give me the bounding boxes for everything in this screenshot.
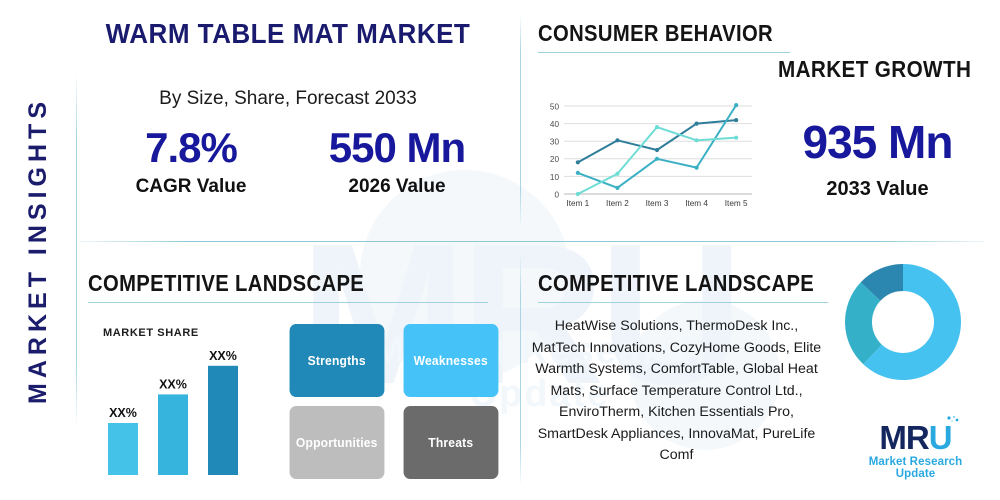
kpi-2026-value: 550 Mn (294, 122, 500, 174)
vertical-divider-center (520, 14, 521, 228)
consumer-behavior-heading-text: CONSUMER BEHAVIOR (538, 20, 760, 47)
svg-text:XX%: XX% (159, 377, 187, 391)
svg-text:Item 3: Item 3 (646, 199, 669, 208)
swot-opportunities-label: Opportunities (296, 435, 378, 450)
swot-threats[interactable]: Threats (403, 406, 497, 479)
vertical-divider-left (76, 72, 77, 428)
infographic-canvas: MRU Market Research Update MARKET INSIGH… (0, 0, 1000, 500)
page-subtitle: By Size, Share, Forecast 2033 (88, 88, 488, 110)
mru-logo: MRU Market Research Update (848, 420, 983, 480)
swot-grid: Strengths Weaknesses Opportunities Threa… (286, 324, 501, 479)
svg-text:30: 30 (550, 138, 560, 147)
swot-strengths[interactable]: Strengths (290, 324, 384, 397)
svg-text:Item 5: Item 5 (725, 199, 748, 208)
kpi-cagr: 7.8% CAGR Value (88, 122, 294, 198)
swot-strengths-label: Strengths (308, 353, 366, 368)
vertical-divider-center-lower (520, 254, 521, 486)
market-growth-label: 2033 Value (760, 178, 995, 201)
market-insights-label: MARKET INSIGHTS (24, 97, 53, 404)
mru-logo-mark: MRU (879, 420, 951, 455)
consumer-behavior-heading: CONSUMER BEHAVIOR (538, 20, 790, 53)
horizontal-divider (80, 241, 985, 242)
kpi-cagr-label: CAGR Value (88, 176, 294, 198)
swot-weaknesses-label: Weaknesses (413, 353, 487, 368)
market-share-donut-chart (843, 262, 963, 382)
svg-text:Item 4: Item 4 (685, 199, 708, 208)
competitive-landscape-left-underline (88, 302, 488, 303)
svg-text:XX%: XX% (209, 349, 237, 363)
svg-text:40: 40 (550, 120, 560, 129)
kpi-row: 7.8% CAGR Value 550 Mn 2026 Value (88, 122, 500, 198)
kpi-2026-label: 2026 Value (294, 176, 500, 198)
market-growth-value: 935 Mn (760, 115, 995, 169)
market-insights-sidebar: MARKET INSIGHTS (0, 0, 76, 500)
svg-text:10: 10 (550, 173, 560, 182)
svg-text:Item 1: Item 1 (566, 199, 589, 208)
mru-logo-tagline: Market Research Update (848, 456, 983, 480)
swot-weaknesses[interactable]: Weaknesses (403, 324, 497, 397)
company-list: HeatWise Solutions, ThermoDesk Inc., Mat… (530, 316, 823, 467)
kpi-2026: 550 Mn 2026 Value (294, 122, 500, 198)
competitive-landscape-right-underline (538, 302, 828, 303)
kpi-cagr-value: 7.8% (88, 122, 294, 174)
svg-text:Item 2: Item 2 (606, 199, 629, 208)
competitive-landscape-right-heading-text: COMPETITIVE LANDSCAPE (538, 270, 793, 297)
svg-text:50: 50 (550, 102, 560, 111)
svg-text:XX%: XX% (109, 406, 137, 420)
svg-text:0: 0 (554, 190, 559, 199)
swot-threats-label: Threats (428, 435, 473, 450)
mru-logo-mark-dark: MR (879, 419, 928, 456)
competitive-landscape-left-heading: COMPETITIVE LANDSCAPE (88, 270, 488, 303)
consumer-behavior-line-chart: 01020304050 Item 1Item 2Item 3Item 4Item… (536, 100, 756, 215)
swot-opportunities[interactable]: Opportunities (290, 406, 384, 479)
water-drop-icon (945, 415, 961, 431)
competitive-landscape-right-heading: COMPETITIVE LANDSCAPE (538, 270, 828, 303)
market-share-bar-chart: XX%XX%XX% (100, 335, 270, 480)
market-growth-heading: MARKET GROWTH (778, 56, 971, 83)
competitive-landscape-left-heading-text: COMPETITIVE LANDSCAPE (88, 270, 440, 297)
consumer-behavior-underline (538, 52, 790, 53)
page-title: WARM TABLE MAT MARKET (102, 18, 474, 50)
svg-text:20: 20 (550, 155, 560, 164)
